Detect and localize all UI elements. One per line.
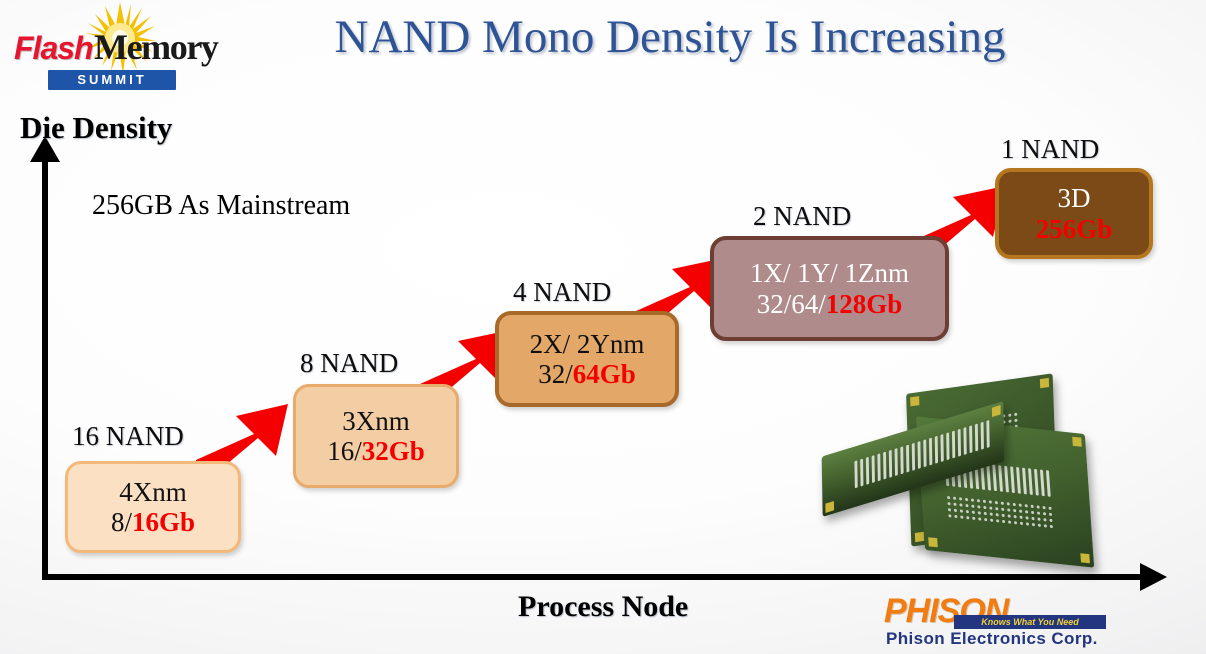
page-title: NAND Mono Density Is Increasing — [250, 10, 1090, 64]
node-process-1: 4Xnm — [119, 477, 187, 507]
node-label-3: 4 NAND — [513, 277, 611, 308]
node-density-highlight-2: 32Gb — [362, 436, 425, 466]
node-box-2-nand[interactable]: 1X/ 1Y/ 1Znm 32/64/128Gb — [710, 236, 949, 341]
node-density-highlight-1: 16Gb — [132, 507, 195, 537]
node-process-4: 1X/ 1Y/ 1Znm — [750, 258, 909, 288]
node-box-16-nand[interactable]: 4Xnm 8/16Gb — [65, 461, 241, 553]
node-density-highlight-3: 64Gb — [573, 359, 636, 389]
slide-canvas: Flash Memory SUMMIT NAND Mono Density Is… — [0, 0, 1206, 654]
phison-company-name: Phison Electronics Corp. — [886, 629, 1098, 649]
x-axis-line — [42, 574, 1150, 580]
nand-chip-photo — [812, 378, 1102, 568]
node-process-2: 3Xnm — [342, 406, 410, 436]
logo-memory-text: Memory — [94, 26, 218, 68]
node-process-3: 2X/ 2Ynm — [530, 329, 645, 359]
node-process-5: 3D — [1058, 183, 1091, 213]
node-label-1: 16 NAND — [72, 421, 184, 452]
x-axis-label: Process Node — [518, 590, 688, 624]
node-density-2: 16/32Gb — [327, 436, 425, 466]
node-label-4: 2 NAND — [753, 201, 851, 232]
phison-tagline-text: Knows What You Need — [954, 615, 1106, 629]
y-axis-line — [42, 158, 48, 580]
node-density-1: 8/16Gb — [111, 507, 195, 537]
logo-flash-text: Flash — [14, 30, 93, 67]
mainstream-annotation: 256GB As Mainstream — [92, 190, 350, 222]
flash-memory-summit-logo: Flash Memory SUMMIT — [6, 2, 224, 98]
node-density-5: 256Gb — [1036, 214, 1113, 244]
logo-summit-text: SUMMIT — [48, 70, 176, 90]
node-density-3: 32/64Gb — [538, 359, 636, 389]
node-label-2: 8 NAND — [300, 348, 398, 379]
node-label-5: 1 NAND — [1001, 134, 1099, 165]
node-box-8-nand[interactable]: 3Xnm 16/32Gb — [293, 384, 459, 488]
node-density-highlight-4: 128Gb — [826, 289, 903, 319]
node-box-1-nand[interactable]: 3D 256Gb — [995, 168, 1153, 259]
phison-logo: PHISON Knows What You Need Phison Electr… — [884, 592, 1134, 648]
y-axis-label: Die Density — [20, 110, 172, 146]
phison-tagline-bar: Knows What You Need — [954, 615, 1106, 629]
node-density-4: 32/64/128Gb — [757, 289, 903, 319]
logo-summit-bar: SUMMIT — [48, 70, 176, 90]
node-density-highlight-5: 256Gb — [1036, 214, 1113, 244]
arrow-right-icon — [1140, 563, 1167, 591]
node-box-4-nand[interactable]: 2X/ 2Ynm 32/64Gb — [495, 311, 679, 407]
